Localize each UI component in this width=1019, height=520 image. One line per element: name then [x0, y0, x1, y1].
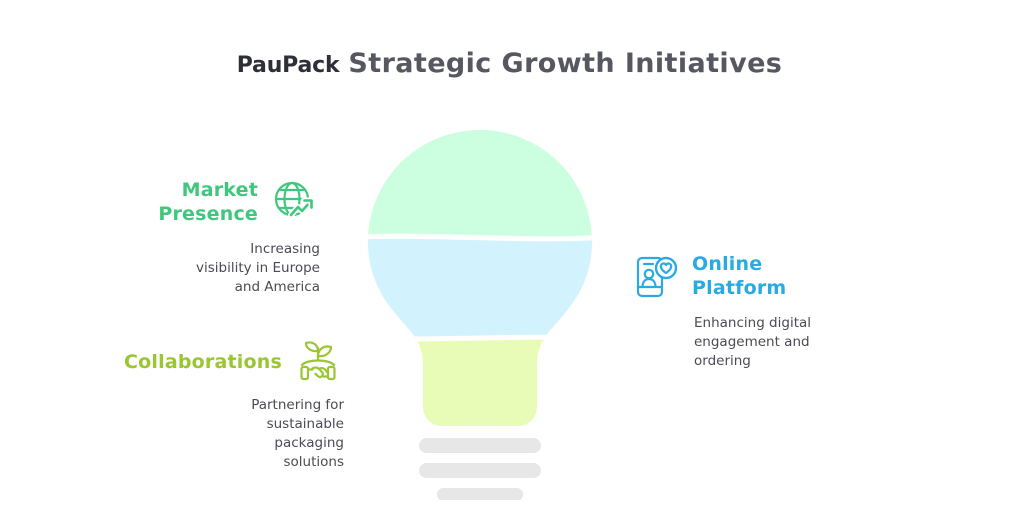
feature-title-online-platform: Online Platform [692, 252, 786, 300]
feature-description-collaborations: Partnering for sustainable packaging sol… [96, 396, 344, 472]
bulb-segment-top [355, 128, 605, 238]
bulb-divider-upper [355, 236, 605, 239]
feature-title-market-presence: Market Presence [158, 178, 258, 226]
brand-name: PauPack [237, 53, 340, 78]
feature-collaborations[interactable]: Collaborations [96, 336, 344, 472]
lightbulb-graphic [355, 128, 605, 500]
feature-market-presence[interactable]: Market Presence Increasing visibilit [96, 176, 320, 297]
feature-online-platform[interactable]: Online Platform Enhancing digital engage… [630, 250, 892, 371]
feature-title-collaborations: Collaborations [124, 350, 282, 374]
bulb-base-bar-3 [437, 488, 523, 500]
feature-header: Collaborations [96, 336, 344, 388]
bulb-base-bar-1 [419, 438, 541, 453]
title-headline: Strategic Growth Initiatives [348, 48, 782, 79]
feature-header: Market Presence [96, 176, 320, 228]
feature-description-market-presence: Increasing visibility in Europe and Amer… [96, 240, 320, 297]
feature-header: Online Platform [630, 250, 892, 302]
handshake-leaf-icon [292, 336, 344, 388]
bulb-base-bar-2 [419, 463, 541, 478]
page-title: PauPackStrategic Growth Initiatives [0, 48, 1019, 79]
bulb-segment-middle [355, 238, 605, 338]
mobile-heart-icon [630, 250, 682, 302]
bulb-divider-lower [355, 336, 605, 340]
globe-growth-icon [268, 176, 320, 228]
feature-description-online-platform: Enhancing digital engagement and orderin… [694, 314, 892, 371]
